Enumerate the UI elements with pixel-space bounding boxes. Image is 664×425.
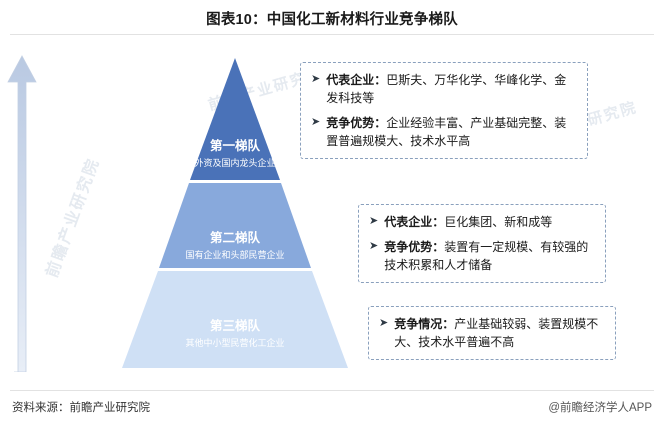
callout-bullet: ➤ 竞争优势：企业经验丰富、产业基础完整、装置普遍规模大、技术水平高 xyxy=(311,114,577,150)
source-note: 资料来源：前瞻产业研究院 xyxy=(12,399,150,415)
callout-bullet: ➤ 竞争情况：产业基础较弱、装置规模不大、技术水平普遍不高 xyxy=(379,315,605,351)
pyramid-tier-1 xyxy=(190,58,280,180)
top-divider xyxy=(10,34,654,35)
arrow-bullet-icon: ➤ xyxy=(369,238,378,255)
page-title: 图表10：中国化工新材料行业竞争梯队 xyxy=(0,8,664,29)
callout-tier-2: ➤ 代表企业：巨化集团、新和成等 ➤ 竞争优势：装置有一定规模、有较强的技术积累… xyxy=(358,204,606,283)
watermark: 前瞻产业研究院 xyxy=(38,154,104,281)
callout-bullet: ➤ 竞争优势：装置有一定规模、有较强的技术积累和人才储备 xyxy=(369,238,595,274)
bottom-divider xyxy=(10,390,654,391)
callout-tier-3: ➤ 竞争情况：产业基础较弱、装置规模不大、技术水平普遍不高 xyxy=(368,306,616,360)
pyramid-tier-2 xyxy=(159,183,311,268)
brand-note: @前瞻经济学人APP xyxy=(548,399,652,415)
callout-bullet: ➤ 代表企业：巨化集团、新和成等 xyxy=(369,213,595,231)
arrow-bullet-icon: ➤ xyxy=(369,213,378,230)
callout-bullet: ➤ 代表企业：巴斯夫、万华化学、华峰化学、金发科技等 xyxy=(311,71,577,107)
figure-page: 图表10：中国化工新材料行业竞争梯队 前瞻产业研究院 前瞻产业研究院 前瞻产业研… xyxy=(0,0,664,425)
callout-tier-1: ➤ 代表企业：巴斯夫、万华化学、华峰化学、金发科技等 ➤ 竞争优势：企业经验丰富… xyxy=(300,62,588,159)
growth-arrow xyxy=(6,52,46,372)
arrow-bullet-icon: ➤ xyxy=(311,114,320,131)
pyramid-tier-3 xyxy=(122,271,348,368)
arrow-bullet-icon: ➤ xyxy=(311,71,320,88)
arrow-bullet-icon: ➤ xyxy=(379,315,388,332)
